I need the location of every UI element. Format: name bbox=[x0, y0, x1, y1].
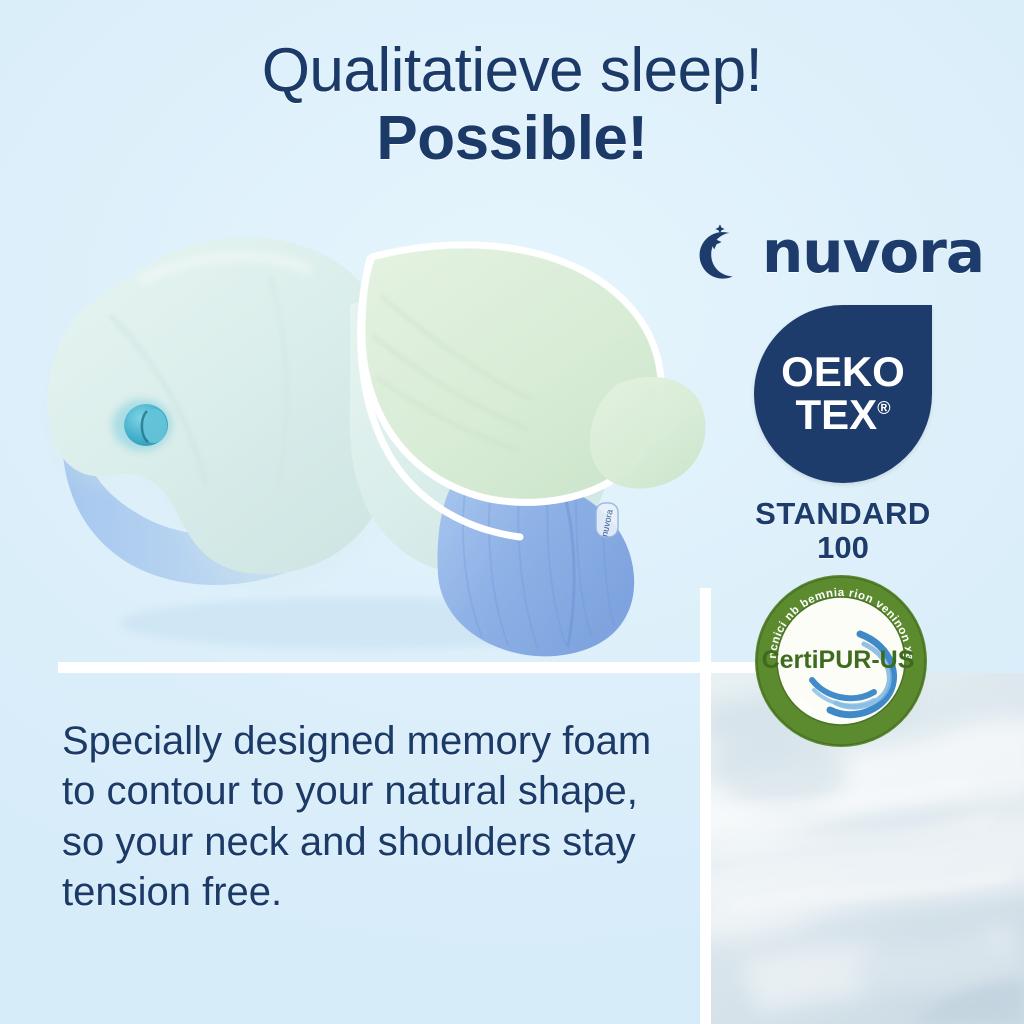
oeko-standard-label: STANDARD bbox=[748, 497, 938, 531]
body-copy-line-3: so your neck and shoulders stay bbox=[62, 817, 722, 867]
headline-line-2: Possible! bbox=[0, 108, 1024, 170]
oeko-tex-droplet: OEKO TEX® bbox=[754, 305, 932, 483]
promo-image-root: Qualitatieve sleep! Possible! bbox=[0, 0, 1024, 1024]
body-copy-line-1: Specially designed memory foam bbox=[62, 716, 722, 766]
brand-logo: nuvora bbox=[688, 214, 988, 290]
crescent-moon-icon bbox=[688, 221, 750, 283]
certipur-us-seal: nnnei bncnici nb bemnia rion veninon xai… bbox=[752, 572, 930, 750]
oeko-standard-number: 100 bbox=[748, 531, 938, 565]
product-image: nuvora bbox=[20, 185, 710, 665]
body-copy-line-2: to contour to your natural shape, bbox=[62, 766, 722, 816]
body-copy-line-4: tension free. bbox=[62, 867, 722, 917]
pillow-knob bbox=[112, 399, 172, 451]
product-tag: nuvora bbox=[596, 503, 618, 538]
seal-brand-text: CertiPUR-US bbox=[762, 646, 915, 674]
divider-horizontal bbox=[58, 662, 758, 673]
brand-name: nuvora bbox=[762, 223, 984, 281]
oeko-label: OEKO bbox=[781, 351, 905, 393]
headline-line-1: Qualitatieve sleep! bbox=[0, 40, 1024, 102]
tex-label: TEX® bbox=[796, 393, 891, 437]
body-copy: Specially designed memory foam to contou… bbox=[62, 716, 722, 918]
page-title: Qualitatieve sleep! Possible! bbox=[0, 40, 1024, 170]
oeko-tex-badge: OEKO TEX® STANDARD 100 bbox=[748, 305, 938, 570]
